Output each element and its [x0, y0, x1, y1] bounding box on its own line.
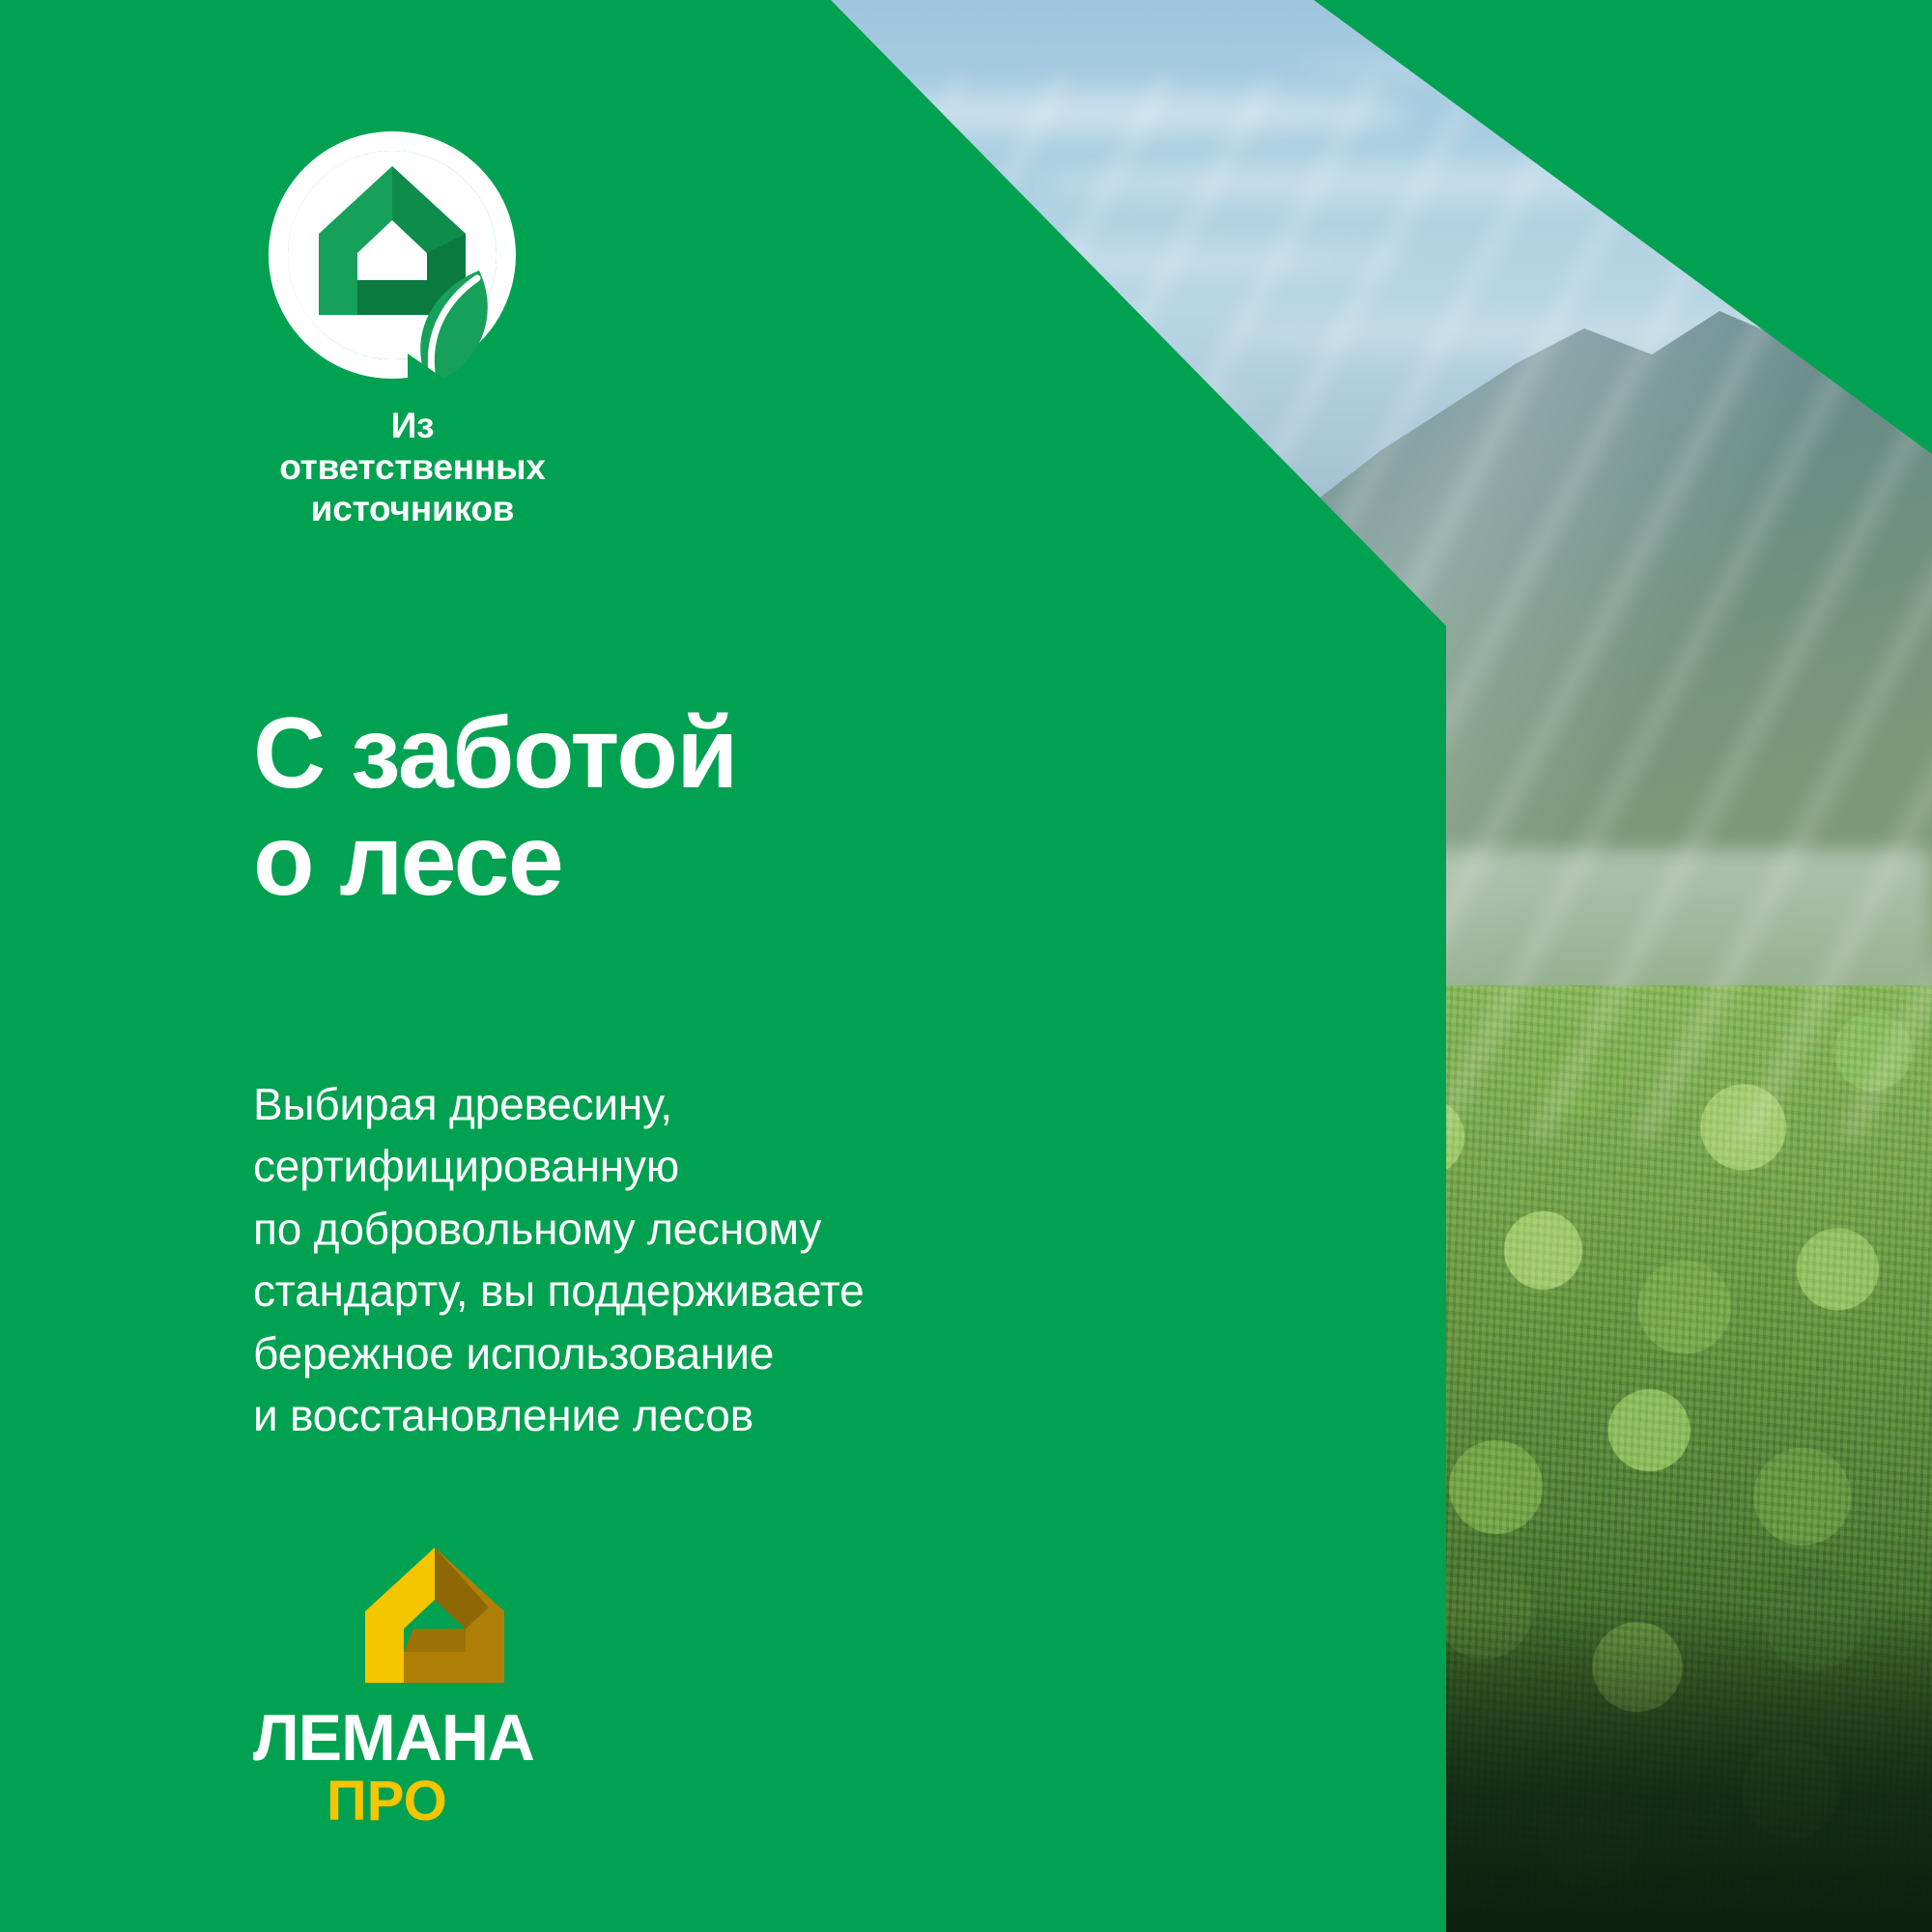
brand-name-primary: ЛЕМАНА — [253, 1701, 534, 1775]
certification-badge-caption: Из ответственных источников — [253, 406, 572, 530]
brand-name-secondary: ПРО — [327, 1770, 447, 1826]
lemana-pro-house-icon — [361, 1544, 508, 1687]
eco-house-leaf-circle-logo-icon — [263, 126, 522, 384]
body-copy: Выбирая древесину, сертифицированную по … — [253, 1073, 864, 1446]
brand-logo: ЛЕМАНА ПРО — [253, 1544, 601, 1826]
lemana-pro-wordmark: ЛЕМАНА ПРО — [253, 1700, 601, 1826]
certification-badge: Из ответственных источников — [253, 126, 562, 530]
poster-root: Из ответственных источников С заботой о … — [0, 0, 1932, 1932]
page-title: С заботой о лесе — [253, 700, 737, 916]
